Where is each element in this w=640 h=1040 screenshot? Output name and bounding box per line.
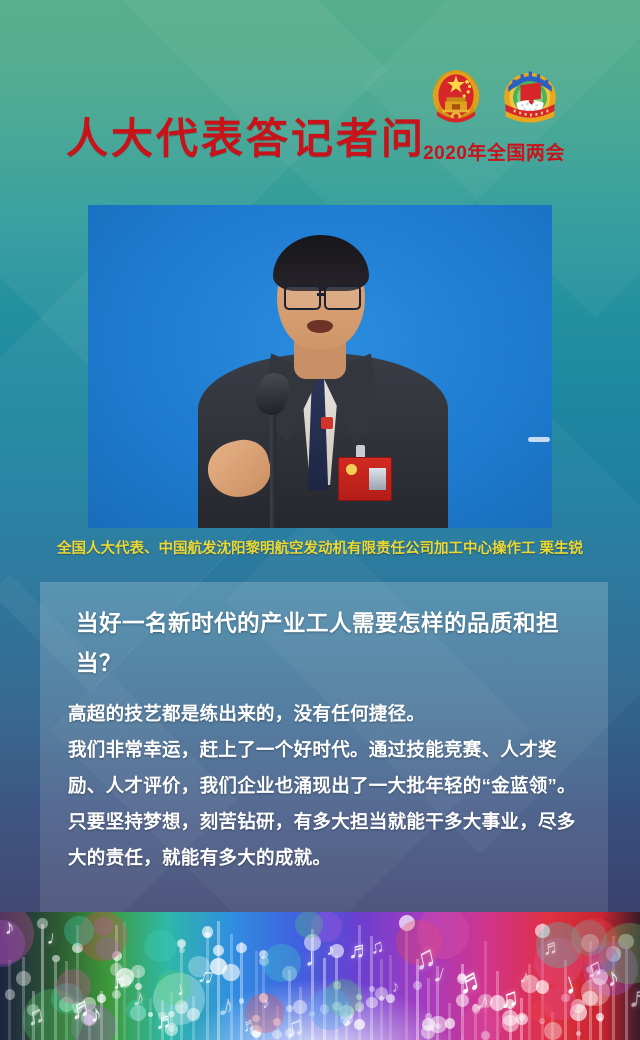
bokeh-circle: [295, 912, 322, 938]
badge-seal-icon: [346, 464, 357, 475]
music-note-icon: ♩: [46, 927, 69, 950]
light-beam: [217, 921, 220, 1040]
light-dot: [445, 1018, 455, 1028]
answer-paragraph-3: 只要坚持梦想，刻苦钻研，有多大担当就能干多大事业，尽多大的责任，就能有多大的成就…: [68, 804, 582, 876]
light-dot: [413, 981, 422, 990]
emblem-group: [418, 62, 568, 132]
light-dot: [222, 964, 240, 982]
content-panel: 当好一名新时代的产业工人需要怎样的品质和担当？ 高超的技艺都是练出来的，没有任何…: [40, 582, 608, 926]
speaker-photo: [88, 205, 552, 528]
light-dot: [148, 1012, 153, 1017]
light-beam: [149, 998, 152, 1040]
light-dot: [179, 947, 185, 953]
light-dot: [366, 997, 377, 1008]
light-dot: [16, 971, 31, 986]
eyeglasses-left-lens: [284, 285, 321, 310]
page-title: 人大代表答记者问: [66, 118, 426, 160]
poster-header: 人大代表答记者问: [0, 0, 640, 205]
music-note-icon: ♪: [261, 996, 270, 1012]
bokeh-circle: [64, 916, 93, 945]
light-dot: [596, 1013, 604, 1021]
music-note-icon: ♬: [626, 980, 640, 1014]
music-note-icon: ♪: [390, 978, 401, 996]
badge-photo: [369, 468, 386, 490]
light-dot: [576, 1031, 581, 1036]
light-dot: [52, 955, 59, 962]
party-lapel-pin: [321, 417, 333, 429]
music-note-icon: ♫: [368, 937, 385, 958]
answer-paragraph-2: 我们非常幸运，赶上了一个好时代。通过技能竞赛、人才奖励、人才评价，我们企业也涌现…: [68, 732, 582, 804]
light-dot: [239, 998, 245, 1004]
light-dot: [131, 965, 145, 979]
light-dot: [5, 989, 16, 1000]
light-dot: [379, 996, 384, 1001]
answer-paragraph-1: 高超的技艺都是练出来的，没有任何捷径。: [68, 696, 582, 732]
light-dot: [544, 1022, 562, 1040]
music-note-icon: ♫: [497, 984, 520, 1013]
light-dot: [354, 1019, 365, 1030]
year-label: 2020年全国两会: [418, 138, 570, 165]
poster-root: 人大代表答记者问: [0, 0, 640, 1040]
light-dot: [202, 926, 213, 937]
bokeh-circle: [144, 930, 177, 963]
photo-caption: 全国人大代表、中国航发沈阳黎明航空发动机有限责任公司加工中心操作工 栗生锐: [57, 537, 583, 558]
national-emblem-of-china-icon: [422, 62, 490, 130]
delegate-badge: [338, 457, 392, 501]
light-dot: [369, 986, 375, 992]
speaker-teeth: [528, 437, 550, 442]
light-dot: [236, 943, 247, 954]
bokeh-circle: [263, 944, 301, 982]
light-beam: [8, 960, 11, 1040]
eyeglasses-right-lens: [324, 285, 361, 310]
music-note-icon: ♫: [282, 1012, 306, 1040]
music-notes-decoration: ♪♫♩♬♪♫♪♬♩♫♪♬♪♫♩♪♬♫♪♫♩♬♪♫♪♬♩♫♪♬: [0, 912, 640, 1040]
music-note-icon: ♪: [3, 916, 16, 938]
eyeglasses-bridge: [317, 293, 325, 296]
music-note-icon: ♬: [540, 936, 563, 959]
music-note-icon: ♪: [89, 1003, 102, 1028]
light-dot: [519, 1015, 525, 1021]
light-dot: [272, 1030, 281, 1039]
music-note-icon: ♩: [174, 977, 197, 1000]
question-text: 当好一名新时代的产业工人需要怎样的品质和担当？: [68, 604, 582, 684]
light-dot: [213, 945, 224, 956]
cppcc-emblem-icon: [496, 62, 564, 130]
bokeh-circle: [309, 988, 350, 1029]
music-note-icon: ♪: [327, 943, 335, 959]
music-note-icon: ♫: [110, 972, 126, 992]
bokeh-circle: [530, 1000, 551, 1021]
photo-caption-bar: 全国人大代表、中国航发沈阳黎明航空发动机有限责任公司加工中心操作工 栗生锐: [0, 528, 640, 566]
light-dot: [37, 918, 48, 929]
music-note-icon: ♬: [154, 1010, 177, 1033]
